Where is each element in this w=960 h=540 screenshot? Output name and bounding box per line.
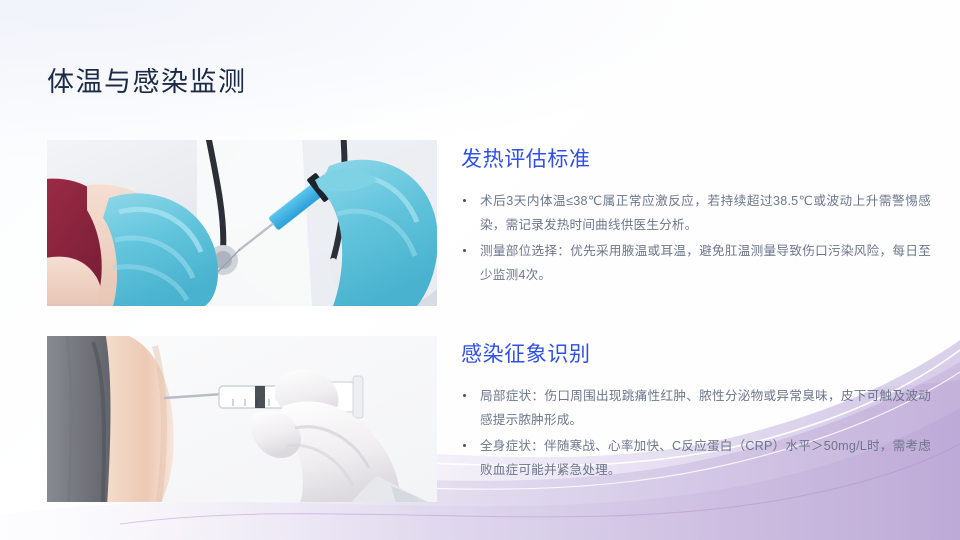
list-item: 术后3天内体温≤38℃属正常应激反应，若持续超过38.5℃或波动上升需警惕感染，…	[461, 189, 931, 237]
bullet-list-infection: 局部症状：伤口周围出现跳痛性红肿、脓性分泌物或异常臭味，皮下可触及波动感提示脓肿…	[461, 384, 931, 482]
bullet-dot-icon	[463, 394, 466, 397]
injection-gloved-hands-photo	[47, 140, 437, 306]
bullet-text: 全身症状：伴随寒战、心率加快、C反应蛋白（CRP）水平＞50mg/L时，需考虑败…	[480, 439, 931, 477]
bullet-list-fever: 术后3天内体温≤38℃属正常应激反应，若持续超过38.5℃或波动上升需警惕感染，…	[461, 189, 931, 287]
section-infection-signs: 感染征象识别 局部症状：伤口周围出现跳痛性红肿、脓性分泌物或异常臭味，皮下可触及…	[461, 338, 931, 484]
section-fever-assessment: 发热评估标准 术后3天内体温≤38℃属正常应激反应，若持续超过38.5℃或波动上…	[461, 143, 931, 289]
list-item: 测量部位选择：优先采用腋温或耳温，避免肛温测量导致伤口污染风险，每日至少监测4次…	[461, 239, 931, 287]
page-title: 体温与感染监测	[47, 60, 247, 99]
list-item: 局部症状：伤口周围出现跳痛性红肿、脓性分泌物或异常臭味，皮下可触及波动感提示脓肿…	[461, 384, 931, 432]
bullet-text: 术后3天内体温≤38℃属正常应激反应，若持续超过38.5℃或波动上升需警惕感染，…	[480, 194, 931, 232]
slide-canvas: 体温与感染监测	[0, 0, 960, 540]
bullet-dot-icon	[463, 199, 466, 202]
list-item: 全身症状：伴随寒战、心率加快、C反应蛋白（CRP）水平＞50mg/L时，需考虑败…	[461, 434, 931, 482]
section-heading-fever: 发热评估标准	[461, 143, 931, 173]
bullet-dot-icon	[463, 249, 466, 252]
bullet-dot-icon	[463, 444, 466, 447]
section-heading-infection: 感染征象识别	[461, 338, 931, 368]
syringe-arm-photo	[47, 336, 437, 502]
bullet-text: 局部症状：伤口周围出现跳痛性红肿、脓性分泌物或异常臭味，皮下可触及波动感提示脓肿…	[480, 389, 931, 427]
bullet-text: 测量部位选择：优先采用腋温或耳温，避免肛温测量导致伤口污染风险，每日至少监测4次…	[480, 244, 931, 282]
